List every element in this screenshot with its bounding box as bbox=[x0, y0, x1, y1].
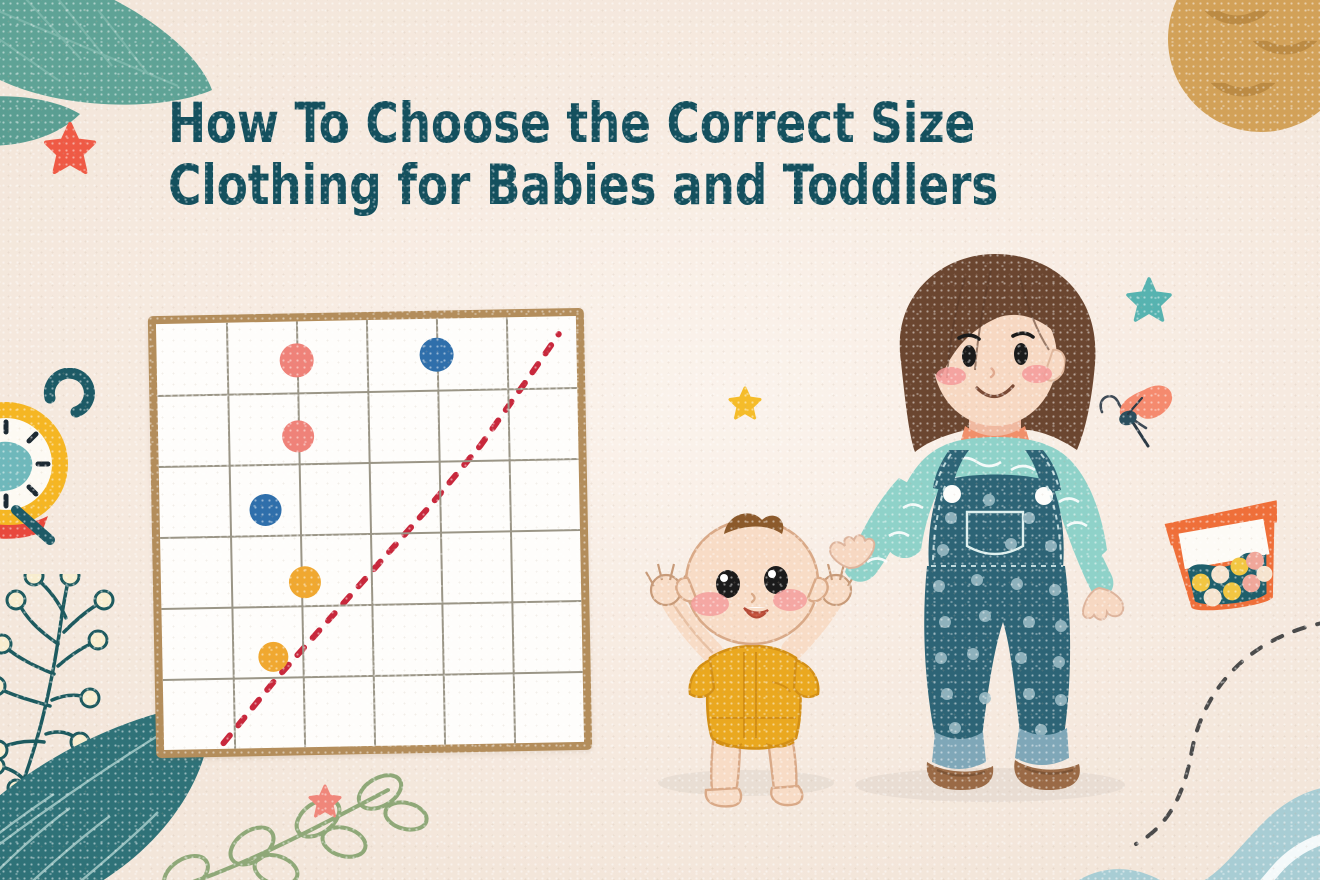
poster-canvas: How To Choose the Correct Size Clothing … bbox=[0, 0, 1320, 880]
mother-character bbox=[815, 250, 1175, 830]
chart-plot-area bbox=[156, 316, 584, 750]
tan-blob-icon bbox=[1168, 0, 1320, 132]
illustration-characters bbox=[630, 240, 1190, 860]
page-title-line-2: Clothing for Babies and Toddlers bbox=[168, 154, 1070, 216]
alarm-clock-icon bbox=[0, 368, 114, 548]
star-top-left-icon bbox=[44, 122, 96, 174]
star-bottom-icon bbox=[308, 784, 342, 818]
olive-sprig-icon bbox=[140, 770, 440, 880]
growth-chart[interactable] bbox=[148, 308, 592, 758]
page-title-line-1: How To Choose the Correct Size bbox=[168, 92, 1070, 154]
page-title: How To Choose the Correct Size Clothing … bbox=[168, 92, 1148, 216]
